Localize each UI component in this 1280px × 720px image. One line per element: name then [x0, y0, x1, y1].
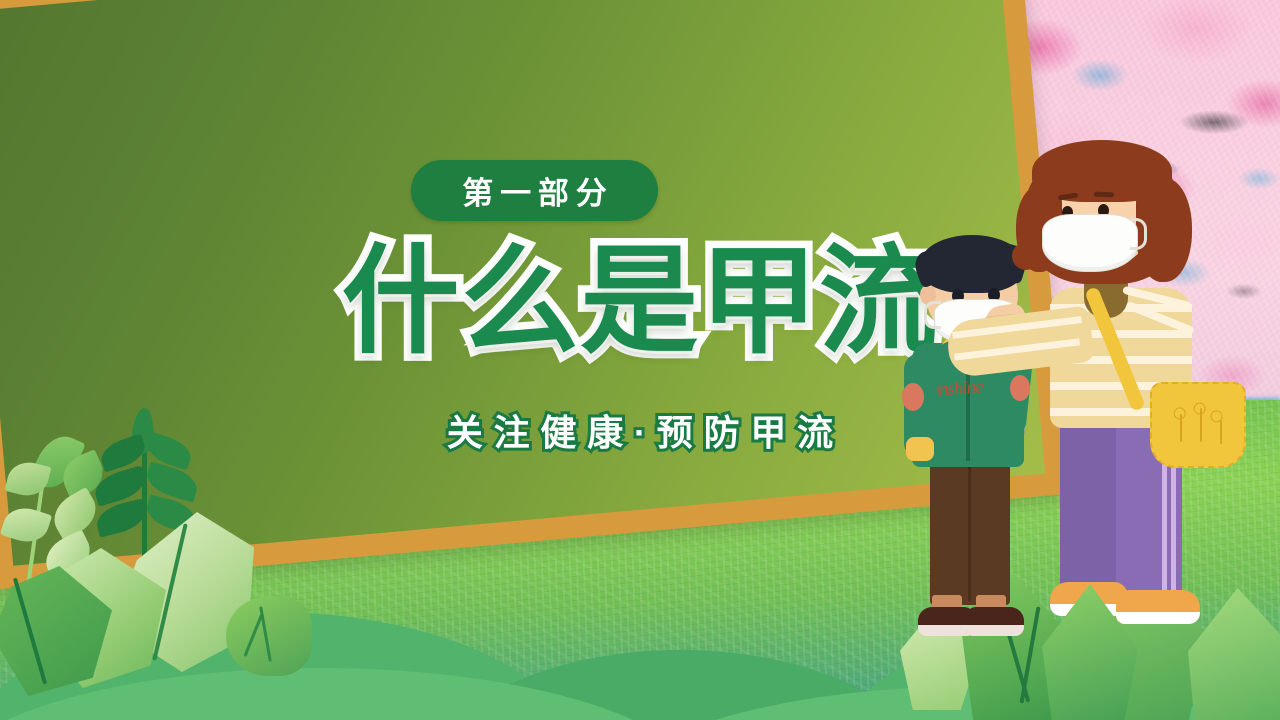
woman-bag-flower-stem	[1200, 408, 1202, 442]
slide-canvas: 第一部分 什么是甲流 关注健康·预防甲流	[0, 0, 1280, 720]
woman-hair-curl	[1012, 242, 1040, 270]
woman-bag-flower-stem	[1220, 420, 1222, 444]
woman-eyebrow	[1094, 192, 1114, 198]
boy-pants-crease	[968, 461, 971, 601]
illustration-woman-with-mask	[1012, 138, 1242, 658]
decorative-foliage	[0, 400, 360, 720]
boy-elbow-patch	[902, 383, 924, 411]
section-badge[interactable]: 第一部分	[411, 160, 658, 221]
woman-bag-flower-embroidery	[1170, 400, 1224, 448]
leaf-shape	[0, 502, 52, 548]
boy-cuff	[906, 437, 934, 461]
bush-shape	[226, 596, 312, 676]
woman-shoe-sole	[1116, 612, 1200, 624]
woman-bag-flower-stem	[1180, 414, 1182, 442]
woman-pants	[1060, 410, 1122, 592]
woman-face-mask	[1042, 214, 1138, 272]
boy-mask-earloop	[924, 301, 941, 329]
woman-mask-earloop	[1130, 218, 1147, 250]
